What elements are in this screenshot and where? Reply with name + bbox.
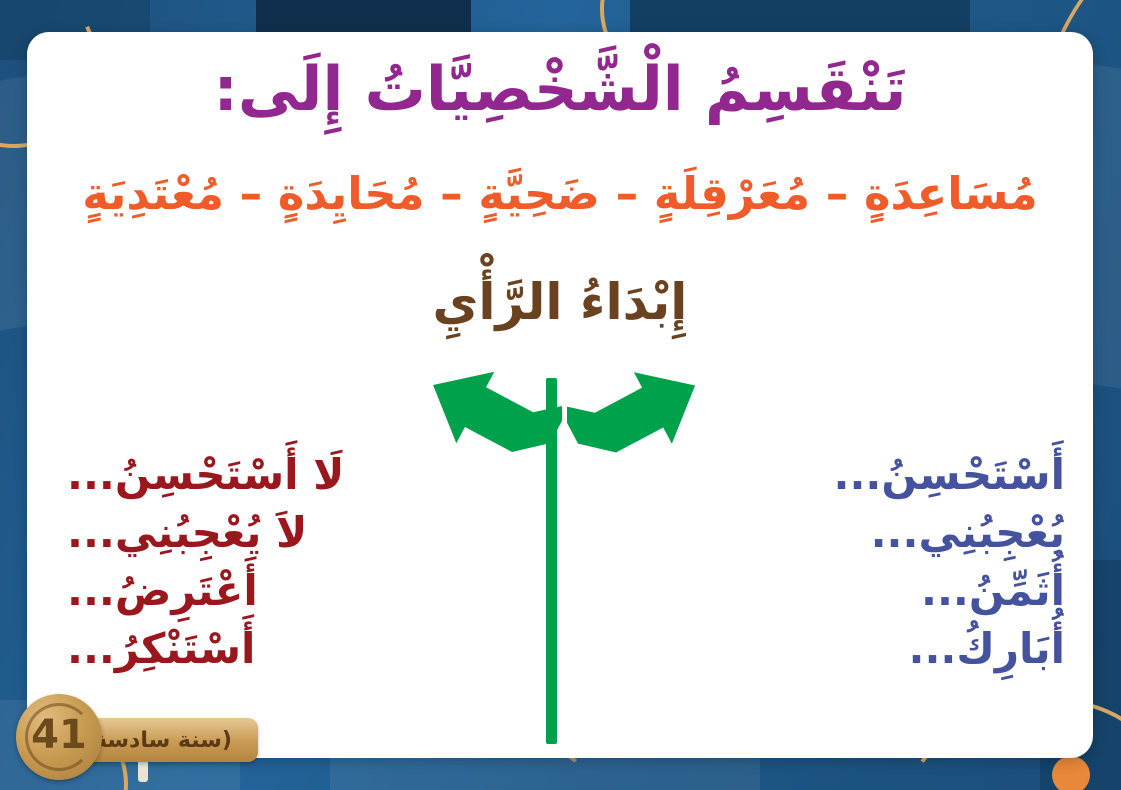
level-label: (سنة سادسة bbox=[94, 728, 232, 753]
content-card: تَنْقَسِمُ الْشَّخْصِيَّاتُ إِلَى: مُسَا… bbox=[27, 32, 1093, 758]
positive-opinion-column: أَسْتَحْسِنُ... يُعْجِبُنِي... أُثَمِّنُ… bbox=[595, 446, 1065, 678]
list-item: لاَ يُعْجِبُنِي... bbox=[67, 504, 537, 562]
list-item: أَسْتَنْكِرُ... bbox=[67, 620, 537, 678]
character-types-list: مُسَاعِدَةٍ – مُعَرْقِلَةٍ – ضَحِيَّةٍ –… bbox=[27, 170, 1093, 217]
list-item: يُعْجِبُنِي... bbox=[595, 504, 1065, 562]
list-item: لَا أَسْتَحْسِنُ... bbox=[67, 446, 537, 504]
orange-dot-icon bbox=[1052, 756, 1090, 790]
page-badge: (سنة سادسة 41 bbox=[6, 690, 296, 782]
negative-opinion-column: لَا أَسْتَحْسِنُ... لاَ يُعْجِبُنِي... أ… bbox=[67, 446, 537, 678]
page-number: 41 bbox=[31, 712, 87, 758]
topic-heading: إِبْدَاءُ الرَّأْيِ bbox=[27, 276, 1093, 329]
list-item: أُبَارِكُ... bbox=[595, 620, 1065, 678]
list-item: أُثَمِّنُ... bbox=[595, 562, 1065, 620]
page-title: تَنْقَسِمُ الْشَّخْصِيَّاتُ إِلَى: bbox=[27, 58, 1093, 122]
list-item: أَعْتَرِضُ... bbox=[67, 562, 537, 620]
list-item: أَسْتَحْسِنُ... bbox=[595, 446, 1065, 504]
slide-canvas: تَنْقَسِمُ الْشَّخْصِيَّاتُ إِلَى: مُسَا… bbox=[0, 0, 1121, 790]
page-number-circle: 41 bbox=[16, 694, 102, 780]
